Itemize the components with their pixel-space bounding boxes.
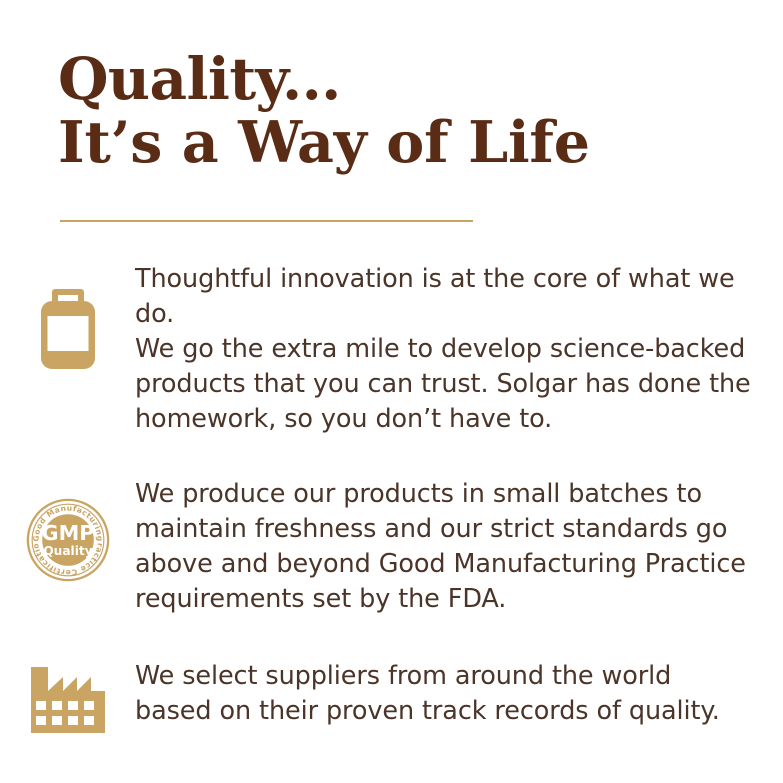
gold-divider xyxy=(60,220,473,222)
page-title: Quality... It’s a Way of Life xyxy=(58,47,718,175)
page-title-line-1: Quality... xyxy=(58,47,718,111)
page-title-line-2: It’s a Way of Life xyxy=(58,111,718,175)
feature-text: We select suppliers from around the worl… xyxy=(135,649,783,729)
feature-list: Thoughtful innovation is at the core of … xyxy=(0,262,783,733)
factory-icon xyxy=(0,649,135,733)
supplement-jar-icon xyxy=(0,262,135,372)
list-item: Thoughtful innovation is at the core of … xyxy=(0,262,783,437)
seal-center-quality: Quality xyxy=(43,544,92,558)
list-item: Good Manufacturing Practice Certificatio… xyxy=(0,477,783,617)
quality-promo-page: Quality... It’s a Way of Life Thoughtful… xyxy=(0,0,783,783)
gmp-quality-seal-icon: Good Manufacturing Practice Certificatio… xyxy=(0,477,135,583)
seal-center-gmp: GMP xyxy=(41,521,94,545)
feature-text: Thoughtful innovation is at the core of … xyxy=(135,262,783,437)
feature-text: We produce our products in small batches… xyxy=(135,477,783,617)
list-item: We select suppliers from around the worl… xyxy=(0,649,783,733)
